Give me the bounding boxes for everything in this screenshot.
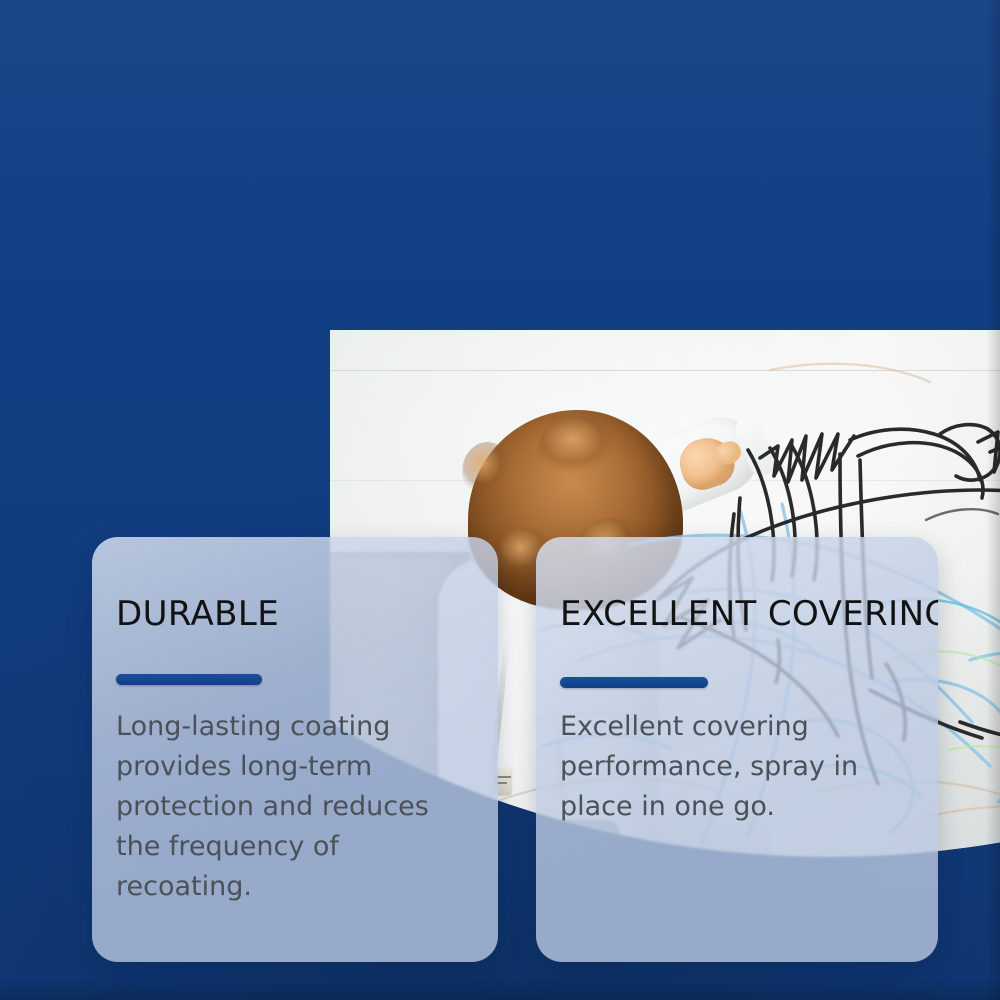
promo-banner: DURABLE Long-lasting coating provides lo…	[0, 0, 1000, 1000]
feature-card-excellent-covering[interactable]: EXCELLENT COVERING Excellent covering pe…	[536, 537, 938, 962]
card-title: DURABLE	[116, 595, 472, 633]
bottom-edge-shade	[0, 978, 1000, 1000]
right-edge-shade	[986, 0, 1000, 1000]
card-body-text: Long-lasting coating provides long-term …	[116, 707, 446, 907]
card-accent-bar	[560, 677, 708, 688]
feature-cards: DURABLE Long-lasting coating provides lo…	[0, 0, 1000, 1000]
feature-card-durable[interactable]: DURABLE Long-lasting coating provides lo…	[92, 537, 498, 962]
card-accent-bar	[116, 674, 262, 685]
card-title: EXCELLENT COVERING	[560, 595, 912, 633]
card-body-text: Excellent covering performance, spray in…	[560, 707, 872, 827]
